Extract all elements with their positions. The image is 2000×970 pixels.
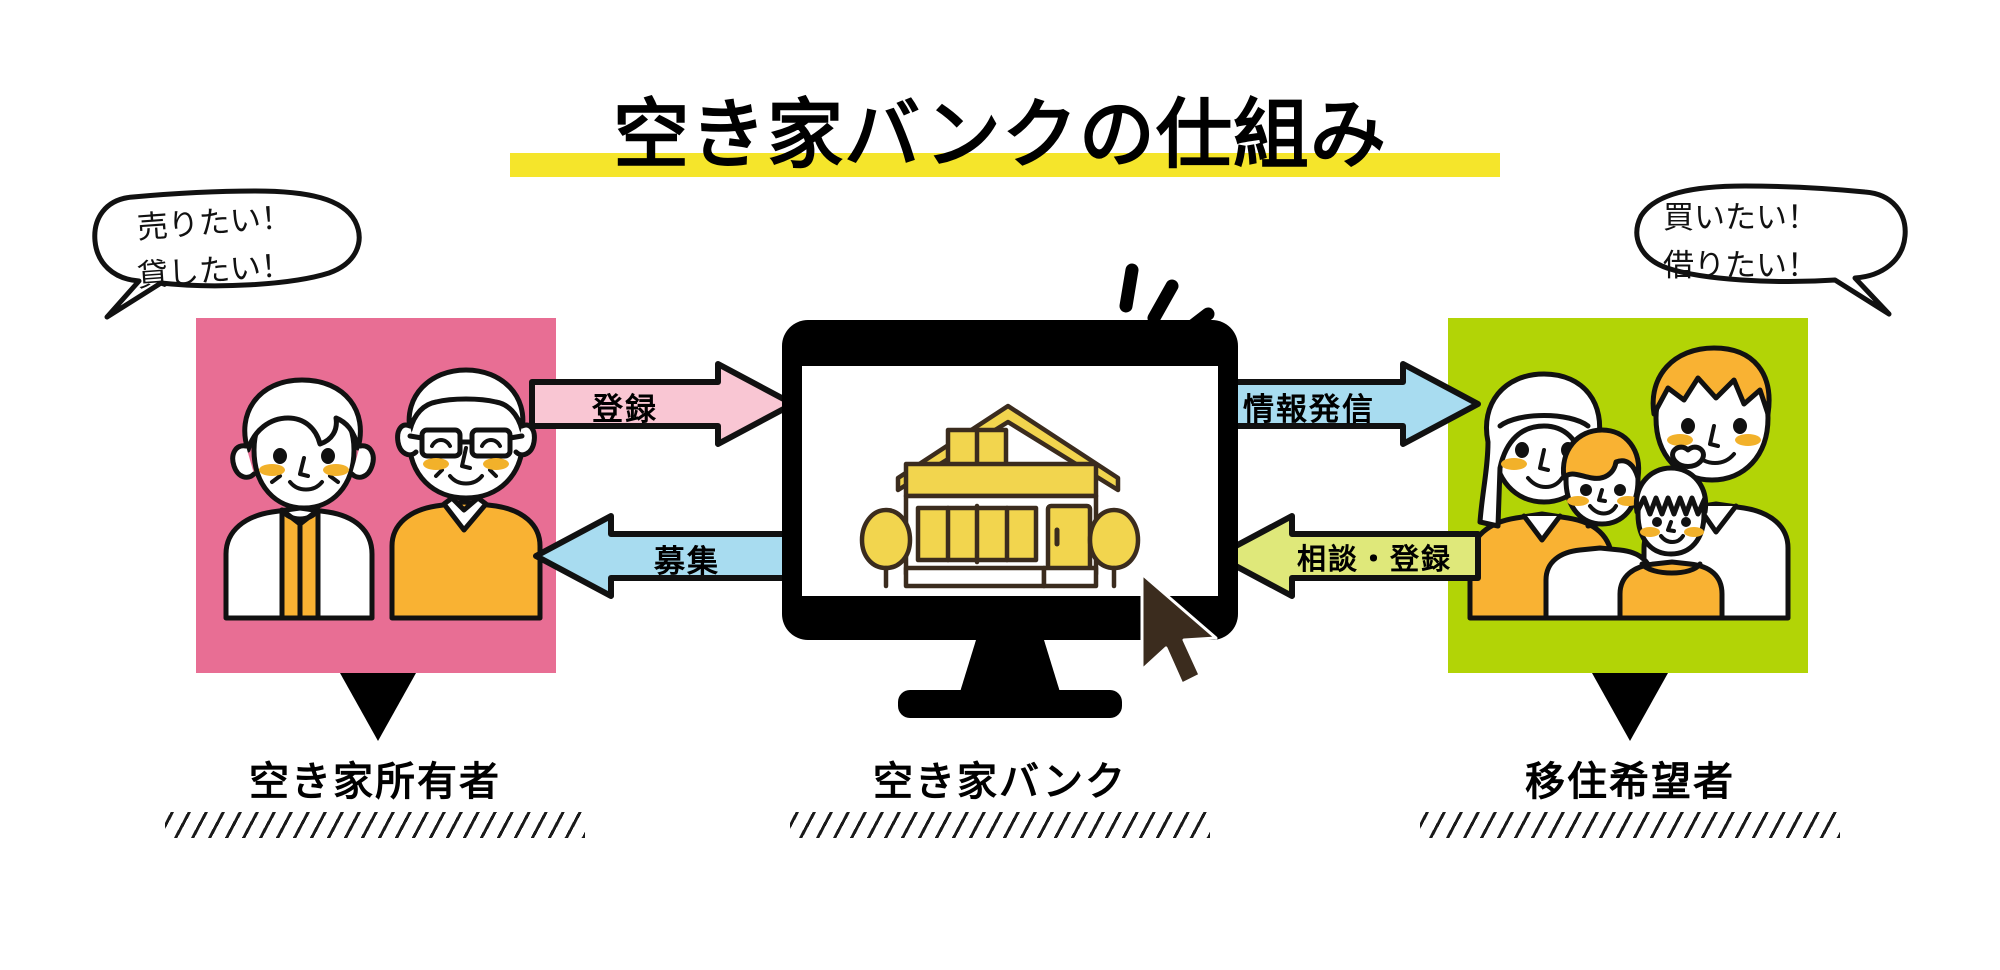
caption-mover-hatch — [1420, 812, 1840, 838]
mover-speech-bubble: 買いたい！ 借りたい！ — [1615, 180, 1915, 325]
owner-panel — [196, 318, 556, 673]
caption-mover: 移住希望者 — [1420, 758, 1840, 838]
mover-bubble-line-1: 買いたい！ — [1663, 194, 1818, 242]
arrow-broadcast: 情報発信 — [1215, 362, 1480, 446]
title-label: 空き家バンクの仕組み — [500, 95, 1500, 175]
caption-owner-hatch — [165, 812, 585, 838]
family-illustration — [1448, 318, 1808, 673]
arrow-register-label: 登録 — [592, 384, 658, 429]
arrow-consult-register: 相談・登録 — [1215, 514, 1480, 598]
arrow-consult-register-label: 相談・登録 — [1297, 536, 1452, 578]
caption-bank-label: 空き家バンク — [790, 758, 1210, 806]
arrow-register: 登録 — [530, 362, 795, 446]
infographic-canvas: 空き家バンクの仕組み 売りたい！ 貸したい！ 買いたい！ 借りたい！ — [0, 0, 2000, 970]
computer-monitor — [780, 318, 1240, 718]
caption-mover-label: 移住希望者 — [1420, 758, 1840, 806]
elderly-couple-illustration — [196, 318, 556, 673]
arrow-recruit-label: 募集 — [654, 536, 720, 581]
owner-speech-bubble: 売りたい！ 貸したい！ — [85, 185, 375, 325]
arrow-broadcast-label: 情報発信 — [1243, 384, 1375, 429]
caption-bank-hatch — [790, 812, 1210, 838]
caption-bank: 空き家バンク — [790, 758, 1210, 838]
monitor-stand-neck — [960, 640, 1060, 692]
caption-owner-label: 空き家所有者 — [165, 758, 585, 806]
arrow-recruit: 募集 — [534, 514, 799, 598]
caption-owner: 空き家所有者 — [165, 758, 585, 838]
mover-panel-pointer — [1592, 673, 1668, 741]
mover-bubble-line-2: 借りたい！ — [1663, 242, 1818, 290]
mover-panel — [1448, 318, 1808, 673]
arrow-register-shape — [530, 362, 795, 446]
monitor-graphic — [780, 318, 1240, 718]
monitor-stand-base — [898, 690, 1122, 718]
owner-panel-pointer — [340, 673, 416, 741]
page-title: 空き家バンクの仕組み — [500, 95, 1500, 185]
